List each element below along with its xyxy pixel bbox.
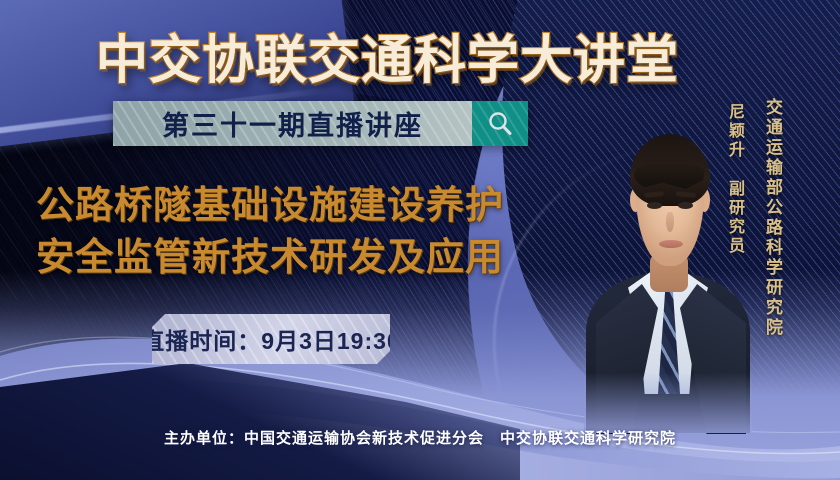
organizer-footer: 主办单位：中国交通运输协会新技术促进分会 中交协联交通科学研究院 (0, 427, 840, 448)
lecture-topic-line1: 公路桥隧基础设施建设养护 (36, 180, 576, 232)
broadcast-time-banner: 直播时间：9月3日19:30 (152, 314, 390, 364)
session-label-container: 第三十一期直播讲座 (113, 101, 472, 146)
search-icon[interactable] (472, 101, 528, 146)
speaker-name-title: 尼颖升 副研究员 (722, 103, 746, 256)
portrait-eye-left (647, 202, 662, 209)
speaker-organization: 交通运输部公路科学研究院 (760, 98, 785, 338)
session-label: 第三十一期直播讲座 (162, 104, 423, 143)
session-banner: 第三十一期直播讲座 (113, 101, 528, 146)
live-stream-poster: 中交协联交通科学大讲堂 中交协联交通科学大讲堂 第三十一期直播讲座 公路桥隧基础… (0, 0, 840, 480)
portrait-bottom-fade (584, 323, 752, 433)
portrait-nose (666, 212, 674, 232)
page-title: 中交协联交通科学大讲堂 (96, 18, 716, 93)
broadcast-time-label: 直播时间：9月3日19:30 (152, 322, 390, 356)
portrait-eye-right (678, 202, 693, 209)
lecture-topic: 公路桥隧基础设施建设养护 安全监管新技术研发及应用 (36, 180, 576, 285)
lecture-topic-line2: 安全监管新技术研发及应用 (36, 232, 576, 284)
portrait-mouth (659, 240, 683, 248)
